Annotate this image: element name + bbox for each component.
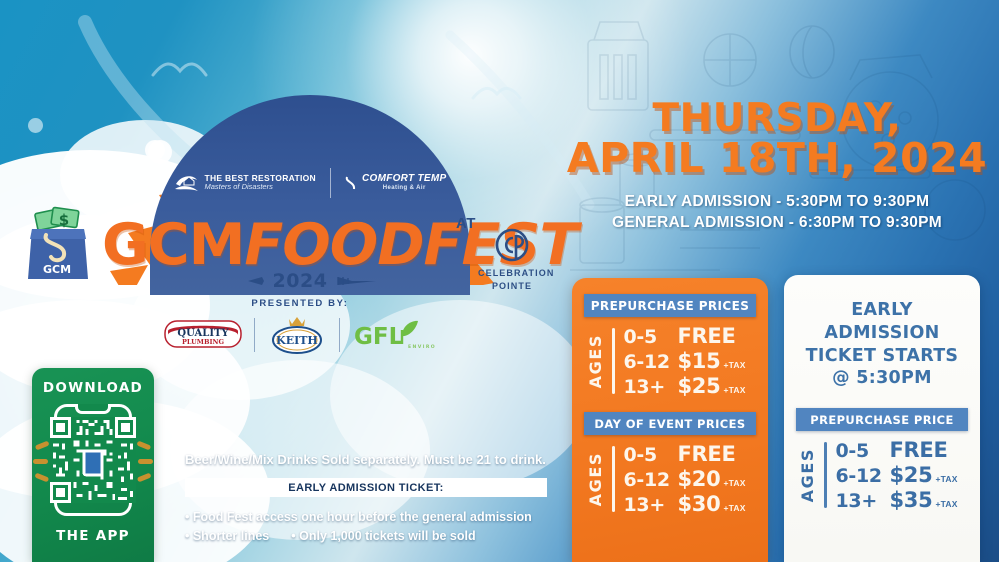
at-label: AT [456,215,476,232]
sponsor-tagline: Masters of Disasters [204,182,315,191]
sponsor-name: COMFORT TEMP [362,174,447,185]
comfort-temp-icon [345,173,357,193]
day-of-event-prices-heading: DAY OF EVENT PRICES [584,412,756,435]
ages-label: AGES [586,452,605,506]
early-admission-heading: EARLY ADMISSION TICKET STARTS @ 5:30PM [784,275,980,390]
title-food: FOOD [244,212,423,278]
age-range: 0-5 [624,444,678,466]
price-row: 13+ $30 +TAX [624,492,746,516]
age-range: 6-12 [836,465,890,487]
early-admission-ticket-label: EARLY ADMISSION TICKET: [288,482,443,494]
early-admission-time: EARLY ADMISSION - 5:30PM TO 9:30PM [562,192,992,213]
sponsor-tagline: Heating & Air [362,185,447,191]
keith-logo: KEITH [267,314,327,356]
venue-name-line1: CELEBRATION [478,268,546,279]
the-app-label: THE APP [32,516,154,544]
title-gcm: GCM [102,212,244,278]
sponsor-divider [254,318,255,352]
cp-monogram-icon [492,228,532,266]
drink-disclaimer: Beer/Wine/Mix Drinks Sold separately. Mu… [185,452,555,467]
price-row: 6-12 $25 +TAX [836,463,958,487]
sponsor-divider [330,168,331,198]
presenting-sponsors-row: QUALITY PLUMBING KEITH GFL ENVIRONMENTAL [155,312,445,358]
heading-label: PREPURCHASE PRICES [591,299,750,313]
price-value: FREE [678,324,736,348]
sponsor-divider [339,318,340,352]
heading-line-1: EARLY [784,299,980,322]
sparkle-icon [131,441,155,489]
date-line-2: APRIL 18TH, 2024 [562,138,992,178]
ages-divider [612,446,615,512]
price-rows: 0-5 FREE 6-12 $20 +TAX 13+ $30 +TAX [624,442,746,516]
ages-divider [824,442,827,508]
age-range: 0-5 [624,326,678,348]
top-sponsor-bar: THE BEST RESTORATION Masters of Disaster… [155,160,465,205]
white-ages-block: AGES 0-5 FREE 6-12 $25 +TAX 13+ [784,438,980,512]
sparkle-icon [31,441,55,489]
price-rows: 0-5 FREE 6-12 $25 +TAX 13+ $35 +TAX [836,438,958,512]
price-value: $30 [678,492,721,516]
sponsor-name: THE BEST RESTORATION [204,174,315,183]
tax-note: +TAX [935,499,957,509]
price-value: FREE [678,442,736,466]
price-row: 6-12 $15 +TAX [624,349,746,373]
svg-text:$: $ [59,211,69,229]
date-line-1: THURSDAY, [562,100,992,138]
knife-icon [222,275,266,287]
sponsor-best-restoration: THE BEST RESTORATION Masters of Disaster… [173,171,315,195]
phone-outline-icon [54,404,132,516]
admission-times: EARLY ADMISSION - 5:30PM TO 9:30PM GENER… [562,192,992,234]
svg-text:PLUMBING: PLUMBING [182,338,224,346]
year-label: 2024 [273,270,328,292]
svg-text:ENVIRONMENTAL: ENVIRONMENTAL [408,344,436,350]
presented-by-label: PRESENTED BY: [200,298,400,309]
year-row: 2024 [210,270,390,292]
bullet-item: • Only 1,000 tickets will be sold [291,527,475,546]
tax-note: +TAX [723,385,745,395]
bullet-item: • Food Fest access one hour before the g… [185,508,565,527]
price-row: 0-5 FREE [624,442,746,466]
sponsor-comfort-temp: COMFORT TEMP Heating & Air [345,173,447,193]
price-row: 6-12 $20 +TAX [624,467,746,491]
price-value: $25 [678,374,721,398]
heading-label: DAY OF EVENT PRICES [594,417,745,431]
venue-name-line2: POINTE [478,281,546,292]
price-row: 0-5 FREE [836,438,958,462]
prepurchase-prices-heading: PREPURCHASE PRICES [584,294,756,317]
price-value: $25 [890,463,933,487]
age-range: 13+ [624,376,678,398]
early-admission-ticket-heading: EARLY ADMISSION TICKET: [185,478,547,497]
price-value: $15 [678,349,721,373]
gcm-money-bag-icon: $ GCM [22,205,100,285]
heading-line-4: @ 5:30PM [784,367,980,390]
age-range: 0-5 [836,440,890,462]
price-value: FREE [890,438,948,462]
age-range: 6-12 [624,351,678,373]
price-rows: 0-5 FREE 6-12 $15 +TAX 13+ $25 +TAX [624,324,746,398]
early-admission-panel-white: EARLY ADMISSION TICKET STARTS @ 5:30PM P… [784,275,980,562]
tax-note: +TAX [723,503,745,513]
price-value: $20 [678,467,721,491]
price-row: 13+ $25 +TAX [624,374,746,398]
bullet-item: • Shorter lines [185,527,269,546]
price-row: 0-5 FREE [624,324,746,348]
tax-note: +TAX [935,474,957,484]
heading-line-2: ADMISSION [784,322,980,345]
bag-label: GCM [43,263,71,276]
heading-label: PREPURCHASE PRICE [810,413,954,427]
download-label: DOWNLOAD [32,368,154,396]
quality-plumbing-logo: QUALITY PLUMBING [164,317,242,353]
heading-line-3: TICKET STARTS [784,345,980,368]
qr-code[interactable] [50,417,136,503]
ages-label: AGES [798,448,817,502]
prepurchase-ages-block: AGES 0-5 FREE 6-12 $15 +TAX 13+ [572,324,768,398]
fork-icon [334,275,378,287]
svg-text:GFL: GFL [354,324,404,350]
early-admission-bullets: • Food Fest access one hour before the g… [185,508,565,547]
celebration-pointe-logo: CELEBRATION POINTE [478,228,546,293]
svg-text:KEITH: KEITH [276,334,318,347]
download-app-panel[interactable]: DOWNLOAD [32,368,154,562]
prepurchase-price-heading: PREPURCHASE PRICE [796,408,968,431]
event-date-block: THURSDAY, APRIL 18TH, 2024 EARLY ADMISSI… [562,100,992,234]
wave-house-icon [173,171,199,195]
price-value: $35 [890,488,933,512]
tax-note: +TAX [723,478,745,488]
age-range: 13+ [836,490,890,512]
price-row: 13+ $35 +TAX [836,488,958,512]
tax-note: +TAX [723,360,745,370]
age-range: 6-12 [624,469,678,491]
food-fest-flyer: THE BEST RESTORATION Masters of Disaster… [0,0,999,562]
ages-divider [612,328,615,394]
gfl-environmental-logo: GFL ENVIRONMENTAL [352,318,436,352]
pricing-panel-orange: PREPURCHASE PRICES AGES 0-5 FREE 6-12 $1… [572,278,768,562]
age-range: 13+ [624,494,678,516]
day-of-event-ages-block: AGES 0-5 FREE 6-12 $20 +TAX 13+ [572,442,768,516]
general-admission-time: GENERAL ADMISSION - 6:30PM TO 9:30PM [562,213,992,234]
ages-label: AGES [586,334,605,388]
